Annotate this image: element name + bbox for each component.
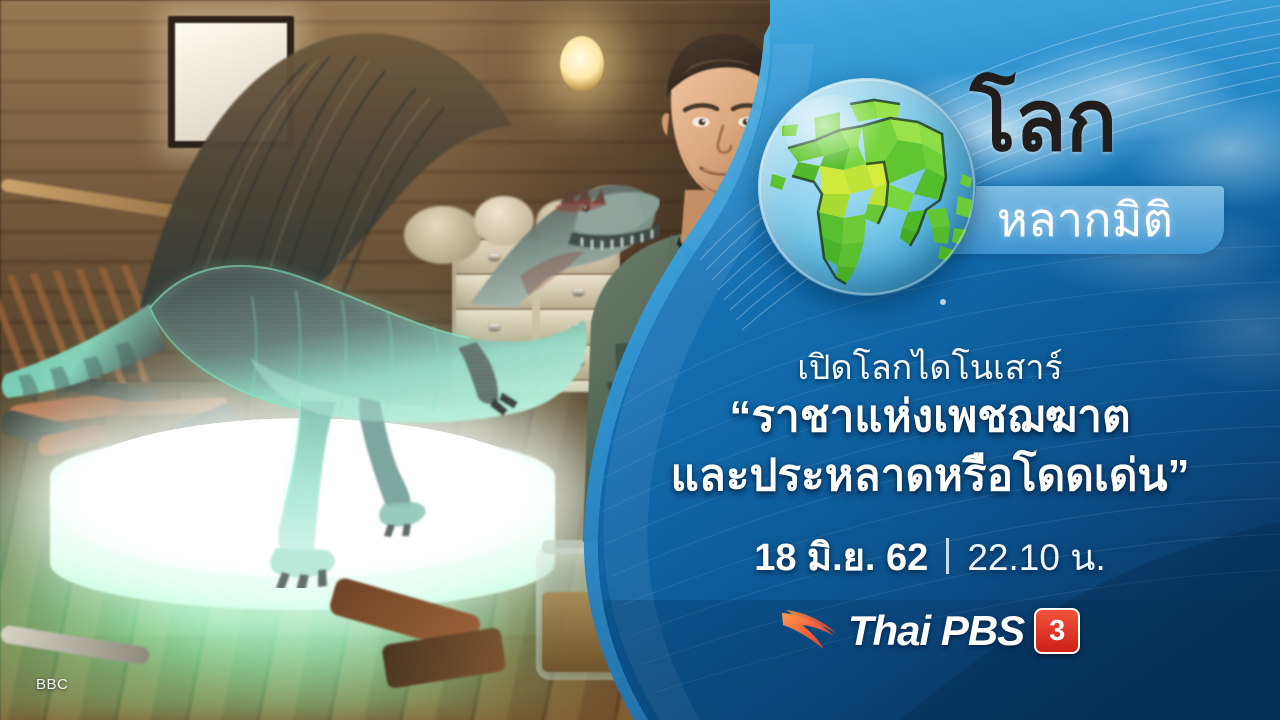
air-time: 22.10 น. <box>967 537 1105 578</box>
thaipbs-logo: Thai PBS 3 <box>780 607 1080 655</box>
program-brand-name: โลก <box>970 82 1116 163</box>
date-time-separator <box>946 538 949 574</box>
promo-graphic: โลก หลากมิติ เปิดโลกไดโนเสาร์ “ราชาแห่งเ… <box>0 0 1280 720</box>
episode-title-line-2: และประหลาดหรือโดดเด่น” <box>600 447 1260 504</box>
globe-icon <box>758 78 976 296</box>
channel-number-badge: 3 <box>1034 608 1080 654</box>
episode-headline: เปิดโลกไดโนเสาร์ <box>600 348 1260 388</box>
globe-highlight <box>784 95 884 169</box>
air-date: 18 มิ.ย. 62 <box>754 537 928 579</box>
thaipbs-swoosh-icon <box>780 608 838 654</box>
episode-title-line-1: “ราชาแห่งเพชฌฆาต <box>600 388 1260 445</box>
program-logo: โลก หลากมิติ <box>758 60 1228 280</box>
program-sub-name: หลากมิติ <box>954 192 1216 248</box>
episode-copy: เปิดโลกไดโนเสาร์ “ราชาแห่งเพชฌฆาต และประ… <box>600 348 1260 659</box>
airing-info: 18 มิ.ย. 62 22.10 น. <box>600 526 1260 587</box>
thaipbs-wordmark: Thai PBS <box>848 607 1024 655</box>
source-watermark: BBC <box>36 676 68 693</box>
